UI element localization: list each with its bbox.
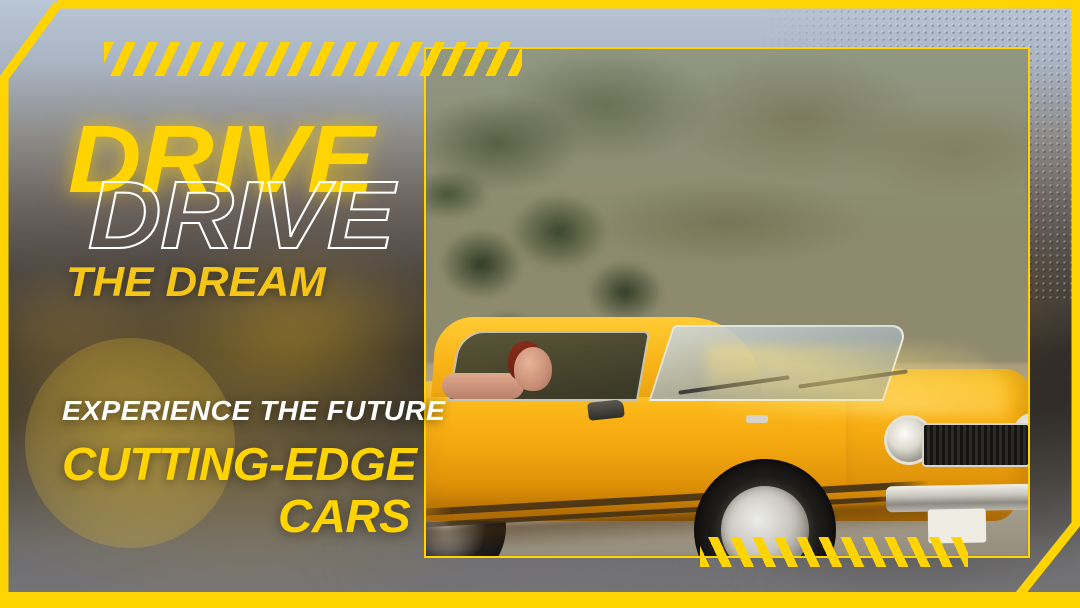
eyebrow-text: EXPERIENCE THE FUTURE xyxy=(62,395,446,427)
photo-car xyxy=(424,317,1030,558)
hero-photo xyxy=(426,49,1028,556)
driver-head xyxy=(514,347,552,391)
car-side-mirror xyxy=(587,399,625,421)
bottom-accent-bar xyxy=(0,592,1080,608)
diagonal-stripe-band-bottom xyxy=(700,537,968,567)
car-grille xyxy=(922,423,1030,467)
diagonal-stripe-band-top xyxy=(104,42,522,76)
driver-arm xyxy=(442,373,524,399)
feature-line-two: CARS xyxy=(278,489,410,543)
poster-canvas: DRIVE DRIVE THE DREAM EXPERIENCE THE FUT… xyxy=(0,0,1080,608)
headline-group: DRIVE DRIVE xyxy=(62,112,462,252)
feature-line-one: CUTTING-EDGE xyxy=(62,437,416,491)
headline-drive-outline: DRIVE xyxy=(88,168,394,264)
hero-photo-frame xyxy=(424,47,1030,558)
car-hood-highlight xyxy=(706,345,1006,415)
headline-subtitle: THE DREAM xyxy=(66,258,326,306)
car-door-handle xyxy=(746,415,768,423)
